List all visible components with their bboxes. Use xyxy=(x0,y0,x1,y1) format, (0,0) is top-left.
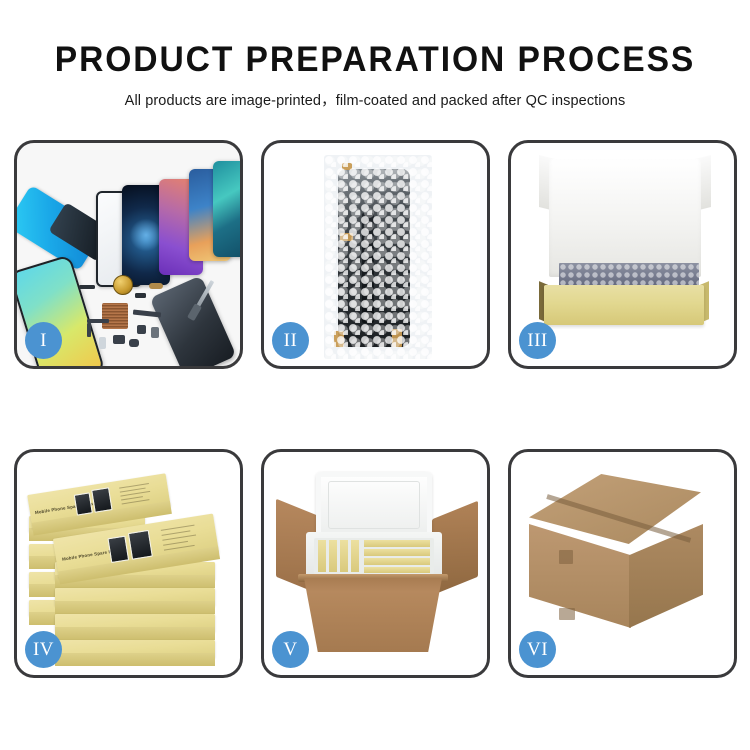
box-layer xyxy=(55,588,215,606)
flex-cable-icon xyxy=(87,323,91,337)
small-part-icon xyxy=(151,327,159,338)
bubble-wrap-texture xyxy=(324,155,432,359)
step-panel-5[interactable]: V xyxy=(261,449,490,678)
box-layer xyxy=(55,640,215,658)
carton-tab-icon xyxy=(559,608,575,620)
foam-lid-icon xyxy=(316,472,432,538)
product-preparation-infographic: PRODUCT PREPARATION PROCESS All products… xyxy=(0,0,750,750)
small-part-icon xyxy=(113,335,125,344)
yellow-box-icon xyxy=(364,540,430,547)
foam-inner-cavity xyxy=(314,538,434,574)
yellow-box-icon xyxy=(364,558,430,565)
yellow-box-icon xyxy=(318,540,326,572)
connector-icon xyxy=(149,283,163,289)
screen-print-icon xyxy=(91,487,112,513)
screen-print-icon xyxy=(107,536,129,564)
step-badge-5: V xyxy=(272,631,309,668)
yellow-box-icon xyxy=(329,540,337,572)
screen-print-icon xyxy=(74,492,93,515)
step-panel-4[interactable]: Mobile Phone Spare Parts Mobile Phone xyxy=(14,449,243,678)
steps-grid: I II xyxy=(14,140,736,680)
yellow-box-icon xyxy=(351,540,359,572)
speaker-icon xyxy=(129,339,139,347)
chip-icon xyxy=(135,293,146,298)
circuit-board-icon xyxy=(102,303,128,329)
box-stack: Mobile Phone Spare Parts Mobile Phone xyxy=(29,470,237,662)
header: PRODUCT PREPARATION PROCESS All products… xyxy=(0,0,750,110)
small-part-icon xyxy=(137,325,146,334)
step-panel-3[interactable]: III xyxy=(508,140,737,369)
small-part-icon xyxy=(99,337,106,349)
white-box-lid-icon xyxy=(549,159,701,277)
step-badge-3: III xyxy=(519,322,556,359)
kraft-box-base-icon xyxy=(544,285,704,325)
printed-box-top: Mobile Phone Spare Parts xyxy=(27,473,171,528)
carton-side-icon xyxy=(629,524,703,628)
step-panel-2[interactable]: II xyxy=(261,140,490,369)
step-panel-6[interactable]: VI xyxy=(508,449,737,678)
yellow-box-icon xyxy=(340,540,348,572)
yellow-box-icon xyxy=(364,549,430,556)
step-badge-1: I xyxy=(25,322,62,359)
display-teal-icon xyxy=(213,161,240,257)
step-panel-1[interactable]: I xyxy=(14,140,243,369)
box-layer xyxy=(55,614,215,632)
carton-body-icon xyxy=(304,578,442,652)
step-badge-2: II xyxy=(272,322,309,359)
step-badge-4: IV xyxy=(25,631,62,668)
yellow-box-icon xyxy=(364,567,430,573)
chip-icon xyxy=(79,285,95,289)
screen-print-icon xyxy=(128,530,153,560)
step-badge-6: VI xyxy=(519,631,556,668)
camera-ring-icon xyxy=(113,275,133,295)
page-subtitle: All products are image-printed，film-coat… xyxy=(0,89,750,110)
carton-tab-icon xyxy=(559,550,573,564)
page-title: PRODUCT PREPARATION PROCESS xyxy=(15,42,735,77)
